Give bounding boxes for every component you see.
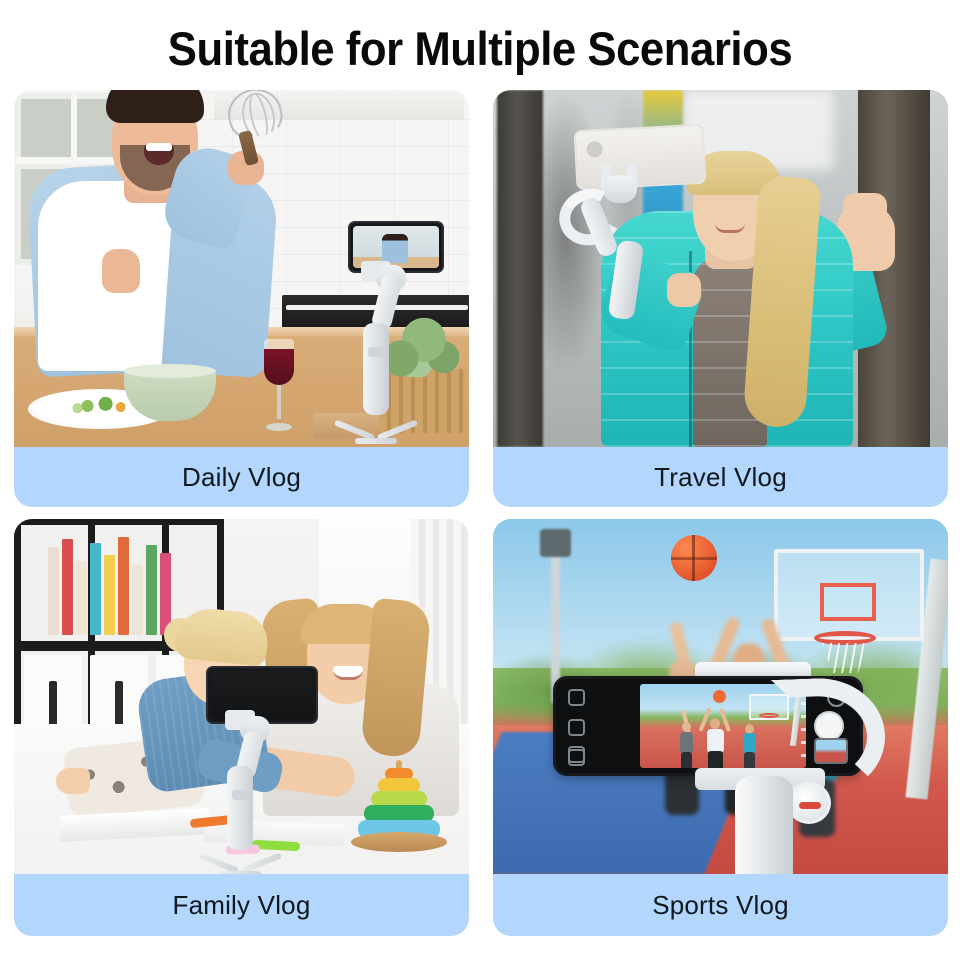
- kitchen-scene: [14, 90, 469, 447]
- gimbal-grip: [735, 776, 793, 874]
- person-man: [32, 90, 268, 371]
- caption-family-vlog: Family Vlog: [14, 874, 469, 936]
- scenario-grid: Daily Vlog: [14, 90, 948, 936]
- tripod: [330, 407, 422, 441]
- caption-sports-vlog: Sports Vlog: [493, 874, 948, 936]
- stacking-toy: [351, 766, 447, 852]
- filter-icon[interactable]: [568, 746, 585, 763]
- caption-travel-vlog: Travel Vlog: [493, 447, 948, 507]
- living-room-scene: [14, 519, 469, 874]
- photo-sports-vlog: [493, 519, 948, 874]
- camera-left-controls[interactable]: [566, 687, 592, 765]
- scenario-card-family-vlog[interactable]: Family Vlog: [14, 519, 469, 936]
- tripod: [194, 840, 286, 874]
- photo-travel-vlog: [493, 90, 948, 447]
- gimbal-control-knob[interactable]: [787, 782, 831, 824]
- wine-glass: [264, 339, 294, 431]
- gimbal-device: [180, 674, 300, 874]
- tree-trunk-left: [497, 90, 543, 447]
- gimbal-device: [555, 139, 705, 319]
- whisk-icon: [228, 91, 288, 165]
- page-title: Suitable for Multiple Scenarios: [34, 24, 927, 73]
- product-feature-page: Suitable for Multiple Scenarios: [0, 0, 960, 960]
- phone-on-gimbal: [574, 124, 707, 191]
- caption-daily-vlog: Daily Vlog: [14, 447, 469, 507]
- outdoor-scene: [493, 90, 948, 447]
- settings-icon[interactable]: [568, 719, 585, 736]
- phone-on-gimbal: [206, 666, 318, 724]
- basketball-court-scene: [493, 519, 948, 874]
- gimbal-device: [316, 211, 436, 441]
- photo-family-vlog: [14, 519, 469, 874]
- flash-icon[interactable]: [568, 689, 585, 706]
- photo-daily-vlog: [14, 90, 469, 447]
- scenario-card-travel-vlog[interactable]: Travel Vlog: [493, 90, 948, 507]
- gimbal-device: [549, 558, 909, 874]
- scenario-card-daily-vlog[interactable]: Daily Vlog: [14, 90, 469, 507]
- scenario-card-sports-vlog[interactable]: Sports Vlog: [493, 519, 948, 936]
